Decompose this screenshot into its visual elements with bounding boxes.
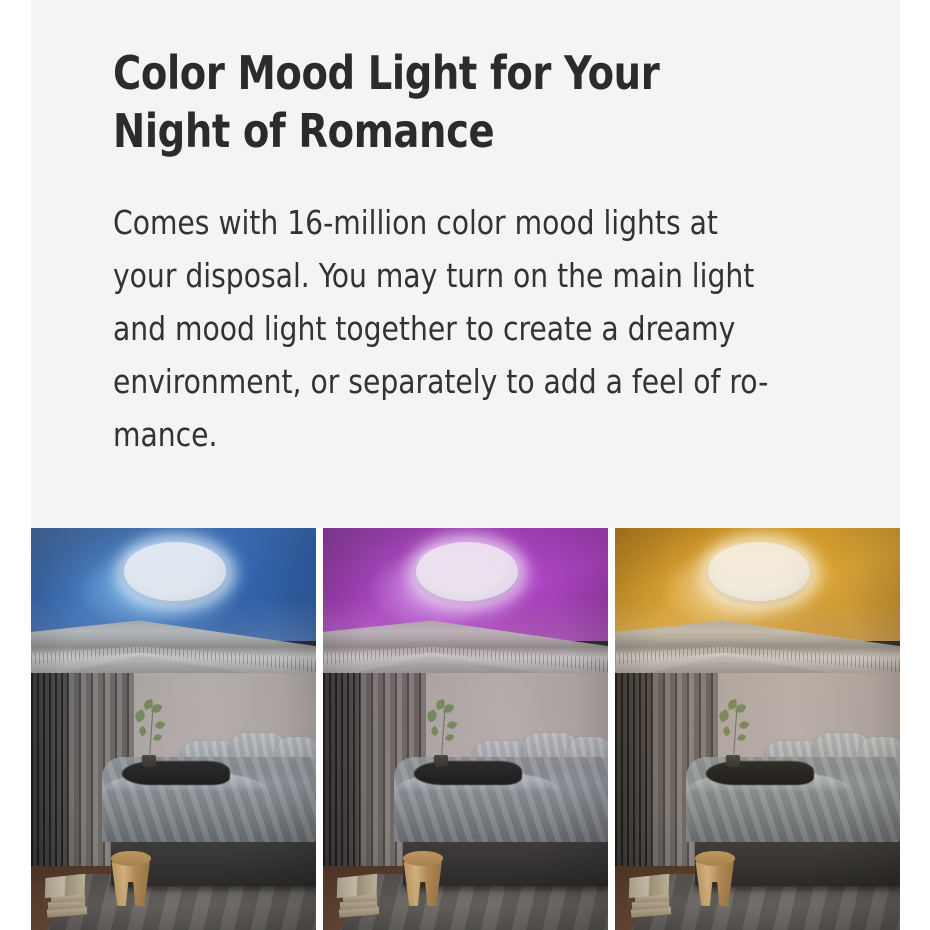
- body-copy-line-1: Comes with 16-million color mood lights …: [113, 203, 718, 242]
- gallery-image-amber[interactable]: [615, 528, 900, 930]
- text-panel: Color Mood Light for Your Night of Roman…: [31, 0, 900, 528]
- body-copy-line-2: your disposal. You may turn on the main …: [113, 256, 754, 295]
- wooden-stool-top: [403, 851, 443, 865]
- body-copy-line-3: and mood light together to create a drea…: [113, 309, 735, 348]
- throw-blanket: [122, 761, 230, 785]
- ceiling-lamp-icon: [124, 542, 227, 600]
- page-title: Color Mood Light for Your Night of Roman…: [113, 44, 764, 160]
- gallery-image-purple[interactable]: [323, 528, 608, 930]
- ceiling-lamp-icon: [416, 542, 519, 600]
- curtain-dark-panel: [615, 673, 652, 896]
- curtain-dark-panel: [323, 673, 360, 896]
- body-copy: Comes with 16-million color mood lights …: [113, 196, 816, 461]
- ceiling-lamp-icon: [708, 542, 811, 600]
- page-title-line-1: Color Mood Light for Your: [113, 46, 659, 100]
- gallery-strip: [31, 528, 900, 930]
- body-copy-line-4: environment, or separately to add a feel…: [113, 362, 768, 401]
- wooden-stool-top: [695, 851, 735, 865]
- throw-blanket: [414, 761, 522, 785]
- wooden-stool-top: [111, 851, 151, 865]
- product-feature-page: Color Mood Light for Your Night of Roman…: [0, 0, 930, 930]
- gallery-image-blue[interactable]: [31, 528, 316, 930]
- page-title-line-2: Night of Romance: [113, 104, 494, 158]
- curtain-dark-panel: [31, 673, 68, 896]
- body-copy-line-5: mance.: [113, 415, 217, 454]
- throw-blanket: [706, 761, 814, 785]
